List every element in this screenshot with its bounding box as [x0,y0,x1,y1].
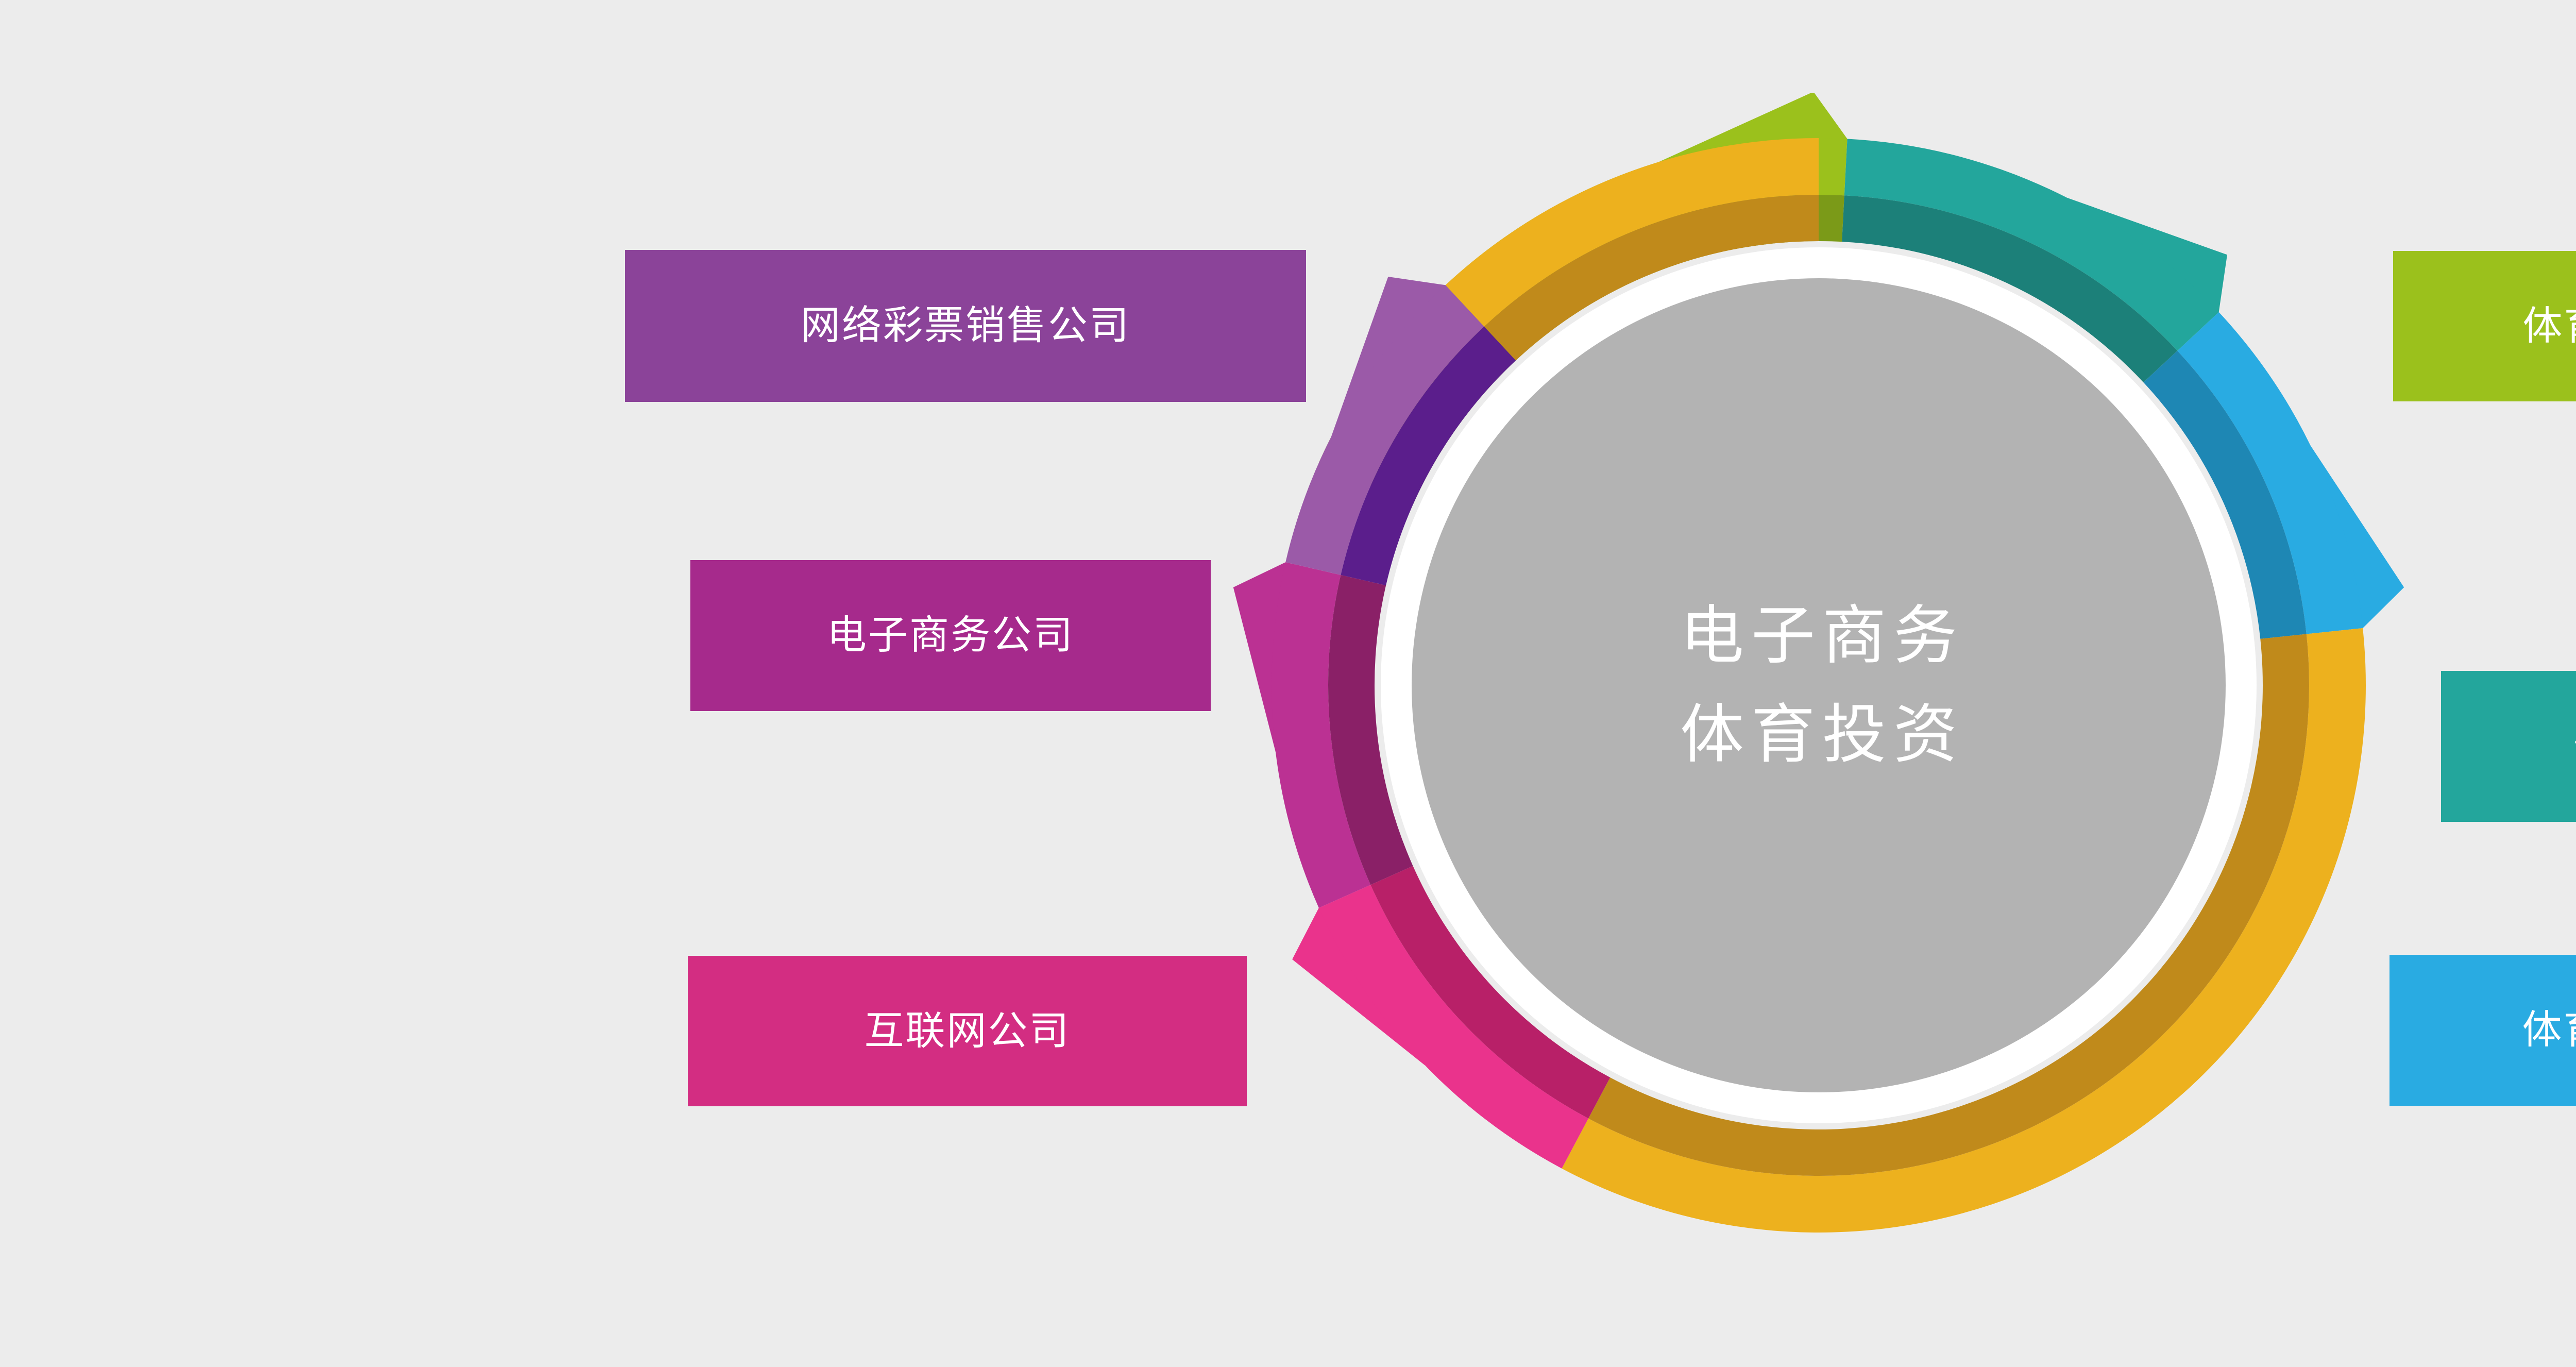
label-chip-sports-industry-investment[interactable]: 体育事业投资 [2389,955,2576,1106]
cycle-ring-chart [1226,93,2411,1278]
label-chip-sports-event-management[interactable]: 体育赛事管理 [2441,671,2576,822]
label-chip-sports-adventure[interactable]: 体育冒险活动 [2393,251,2576,401]
label-chip-ecommerce-company[interactable]: 电子商务公司 [690,560,1211,711]
label-chip-internet-company[interactable]: 互联网公司 [688,956,1247,1106]
center-circle [1412,278,2226,1092]
diagram-canvas: 电子商务 体育投资 网络彩票销售公司 电子商务公司 互联网公司 体育冒险活动 体… [0,0,2576,1367]
label-chip-internet-lottery-sales[interactable]: 网络彩票销售公司 [625,250,1306,402]
